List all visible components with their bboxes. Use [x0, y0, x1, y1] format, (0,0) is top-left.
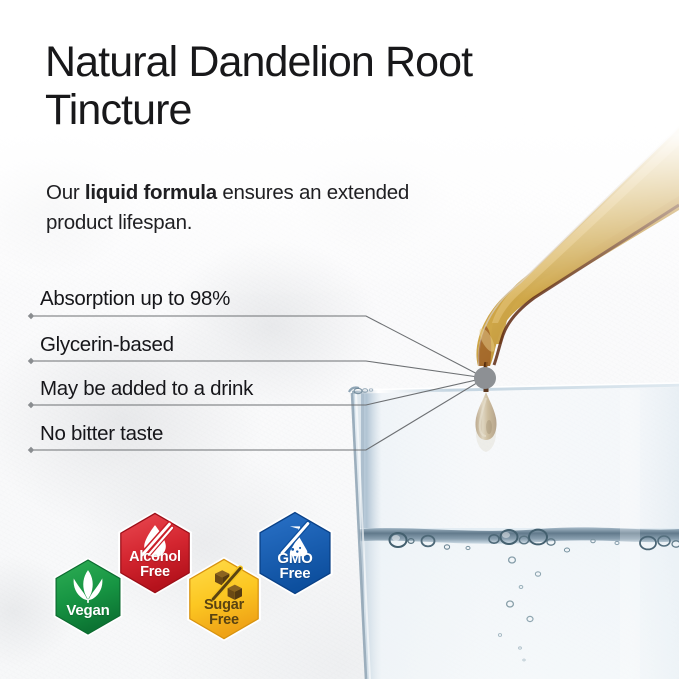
badge-vegan: Vegan — [46, 555, 130, 639]
callout-leader-line-1 — [31, 361, 485, 378]
callout-hub-dot — [474, 367, 496, 389]
callout-label-glycerin: Glycerin-based — [40, 333, 174, 357]
callout-label-added-to-drink: May be added to a drink — [40, 377, 253, 401]
callout-marker-2 — [28, 402, 34, 408]
callout-marker-3 — [28, 447, 34, 453]
callout-label-no-bitter-taste: No bitter taste — [40, 422, 163, 446]
callout-marker-0 — [28, 313, 34, 319]
callout-marker-1 — [28, 358, 34, 364]
certification-badges: GMO Free — [40, 500, 370, 650]
callout-label-absorption: Absorption up to 98% — [40, 287, 230, 311]
product-infographic: Natural Dandelion Root Tincture Our liqu… — [0, 0, 679, 679]
